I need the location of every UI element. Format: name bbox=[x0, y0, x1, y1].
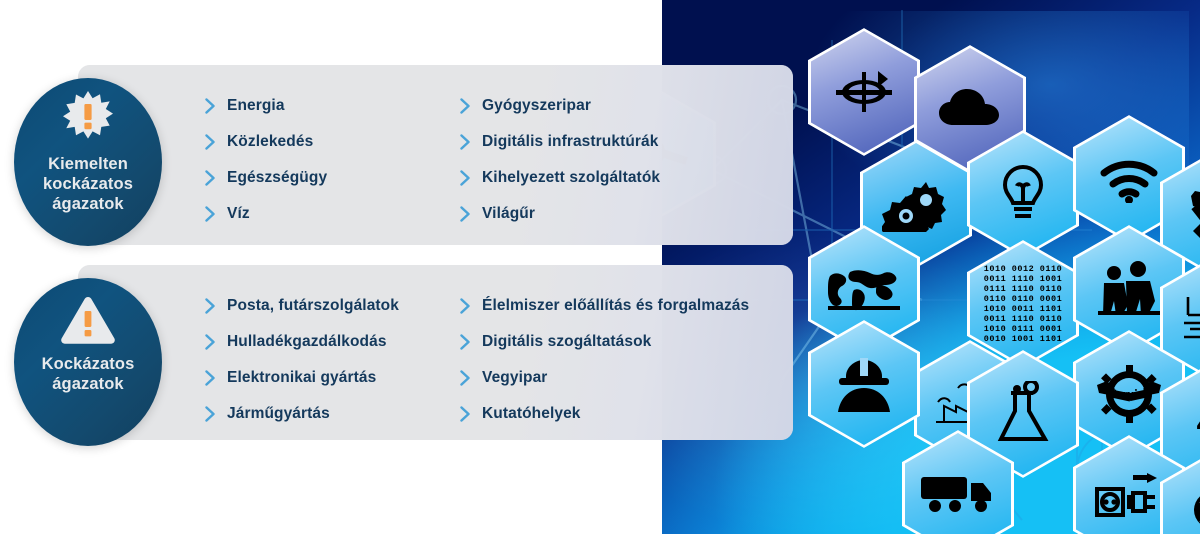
list-item[interactable]: Kutatóhelyek bbox=[460, 396, 785, 432]
sector-column-left: Energia Közlekedés Egészségügy Víz bbox=[205, 88, 460, 232]
list-item-label: Élelmiszer előállítás és forgalmazás bbox=[482, 297, 749, 315]
list-item-label: Hulladékgazdálkodás bbox=[227, 333, 387, 351]
infographic-canvas: 1010 0012 01100011 1110 10010111 1110 01… bbox=[0, 0, 1200, 537]
list-item-label: Járműgyártás bbox=[227, 405, 330, 423]
list-item-label: Energia bbox=[227, 97, 285, 115]
list-item-label: Kutatóhelyek bbox=[482, 405, 581, 423]
list-item[interactable]: Energia bbox=[205, 88, 460, 124]
worker-helmet-icon bbox=[808, 320, 920, 448]
sector-columns-high-risk: Energia Közlekedés Egészségügy Víz bbox=[205, 88, 785, 232]
binary-code-icon: 1010 0012 01100011 1110 10010111 1110 01… bbox=[984, 264, 1062, 344]
list-item[interactable]: Kihelyezett szolgáltatók bbox=[460, 160, 785, 196]
sector-column-right: Élelmiszer előállítás és forgalmazás Dig… bbox=[460, 288, 785, 432]
chevron-right-icon bbox=[460, 206, 482, 222]
list-item-label: Víz bbox=[227, 205, 250, 223]
svg-text:Service: Service bbox=[1110, 386, 1149, 401]
chevron-right-icon bbox=[205, 170, 227, 186]
list-item[interactable]: Közlekedés bbox=[205, 124, 460, 160]
list-item-label: Digitális szogáltatások bbox=[482, 333, 651, 351]
chevron-right-icon bbox=[460, 370, 482, 386]
list-item-label: Elektronikai gyártás bbox=[227, 369, 376, 387]
sector-column-left: Posta, futárszolgálatok Hulladékgazdálko… bbox=[205, 288, 460, 432]
sector-columns-risk: Posta, futárszolgálatok Hulladékgazdálko… bbox=[205, 288, 785, 432]
badge-title: Kiemelten kockázatos ágazatok bbox=[35, 154, 141, 214]
list-item-label: Közlekedés bbox=[227, 133, 313, 151]
list-item[interactable]: Digitális szogáltatások bbox=[460, 324, 785, 360]
list-item-label: Digitális infrastruktúrák bbox=[482, 133, 659, 151]
chevron-right-icon bbox=[205, 206, 227, 222]
chevron-right-icon bbox=[460, 334, 482, 350]
chevron-right-icon bbox=[205, 334, 227, 350]
list-item[interactable]: Hulladékgazdálkodás bbox=[205, 324, 460, 360]
list-item[interactable]: Víz bbox=[205, 196, 460, 232]
list-item[interactable]: Gyógyszeripar bbox=[460, 88, 785, 124]
chevron-right-icon bbox=[460, 98, 482, 114]
chevron-right-icon bbox=[460, 134, 482, 150]
list-item-label: Vegyipar bbox=[482, 369, 547, 387]
chevron-right-icon bbox=[460, 298, 482, 314]
chevron-right-icon bbox=[205, 298, 227, 314]
chevron-right-icon bbox=[460, 170, 482, 186]
sector-column-right: Gyógyszeripar Digitális infrastruktúrák … bbox=[460, 88, 785, 232]
badge-title: Kockázatos ágazatok bbox=[34, 354, 143, 394]
list-item[interactable]: Posta, futárszolgálatok bbox=[205, 288, 460, 324]
list-item[interactable]: Világűr bbox=[460, 196, 785, 232]
list-item[interactable]: Vegyipar bbox=[460, 360, 785, 396]
chevron-right-icon bbox=[205, 134, 227, 150]
chevron-right-icon bbox=[205, 370, 227, 386]
list-item[interactable]: Egészségügy bbox=[205, 160, 460, 196]
list-item-label: Gyógyszeripar bbox=[482, 97, 591, 115]
warning-triangle-exclamation-icon bbox=[59, 292, 117, 348]
badge-high-risk: Kiemelten kockázatos ágazatok bbox=[14, 78, 162, 246]
starburst-exclamation-icon bbox=[59, 92, 117, 148]
list-item[interactable]: Elektronikai gyártás bbox=[205, 360, 460, 396]
industry-version-text: 4.0 bbox=[1197, 407, 1200, 441]
list-item-label: Kihelyezett szolgáltatók bbox=[482, 169, 660, 187]
hex-tile-recycle-arrows bbox=[808, 28, 920, 156]
chevron-right-icon bbox=[205, 98, 227, 114]
list-item-label: Posta, futárszolgálatok bbox=[227, 297, 399, 315]
list-item[interactable]: Járműgyártás bbox=[205, 396, 460, 432]
list-item-label: Világűr bbox=[482, 205, 535, 223]
chevron-right-icon bbox=[460, 406, 482, 422]
recycle-arrows-icon bbox=[808, 28, 920, 156]
list-item-label: Egészségügy bbox=[227, 169, 327, 187]
chevron-right-icon bbox=[205, 406, 227, 422]
list-item[interactable]: Digitális infrastruktúrák bbox=[460, 124, 785, 160]
hex-tile-worker-helmet bbox=[808, 320, 920, 448]
badge-risk: Kockázatos ágazatok bbox=[14, 278, 162, 446]
list-item[interactable]: Élelmiszer előállítás és forgalmazás bbox=[460, 288, 785, 324]
